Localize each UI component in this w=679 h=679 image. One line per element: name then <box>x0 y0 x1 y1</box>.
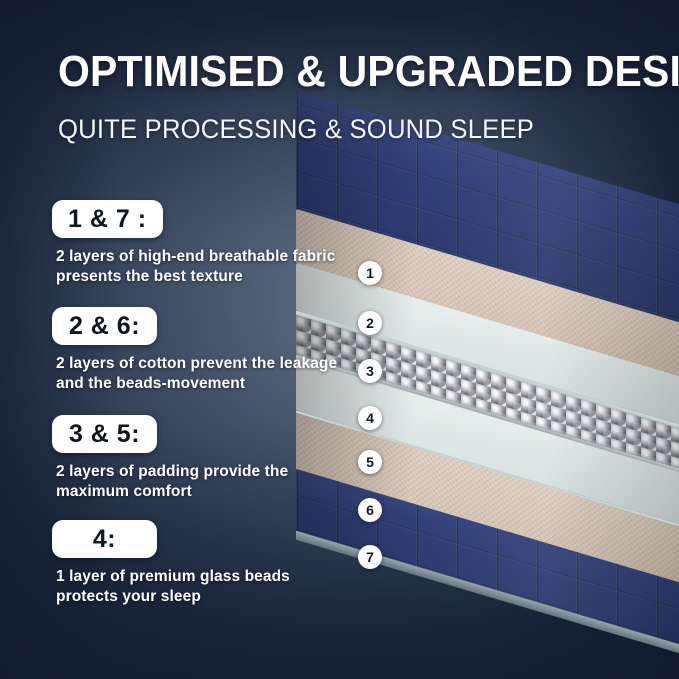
info-label-3: 3 & 5: <box>52 415 157 453</box>
layer-badge-7: 7 <box>358 545 382 569</box>
layer-stack-illustration: 1 2 3 4 5 6 7 <box>308 150 679 670</box>
info-label-1: 1 & 7 : <box>52 200 163 238</box>
info-label-2: 2 & 6: <box>52 307 157 345</box>
layer-badge-5: 5 <box>358 450 382 474</box>
header-group: OPTIMISED & UPGRADED DESIGN QUITE PROCES… <box>58 50 658 143</box>
info-description-1: 2 layers of high-end breathable fabric p… <box>56 247 342 287</box>
layer-badge-1: 1 <box>358 261 382 285</box>
info-description-3: 2 layers of padding provide the maximum … <box>56 462 342 502</box>
info-description-4: 1 layer of premium glass beads protects … <box>56 567 342 607</box>
info-block-4: 4: 1 layer of premium glass beads protec… <box>52 520 342 607</box>
layer-badge-2: 2 <box>358 311 382 335</box>
info-block-1: 1 & 7 : 2 layers of high-end breathable … <box>52 200 342 287</box>
page-title: OPTIMISED & UPGRADED DESIGN <box>58 50 616 94</box>
layer-badge-4: 4 <box>358 406 382 430</box>
info-description-2: 2 layers of cotton prevent the leakage a… <box>56 354 342 394</box>
layer-badge-6: 6 <box>358 498 382 522</box>
page-subtitle: QUITE PROCESSING & SOUND SLEEP <box>58 116 628 143</box>
info-block-3: 3 & 5: 2 layers of padding provide the m… <box>52 415 342 502</box>
stack-layer-7 <box>296 528 679 678</box>
info-label-4: 4: <box>52 520 157 558</box>
layer-badge-3: 3 <box>358 359 382 383</box>
info-block-2: 2 & 6: 2 layers of cotton prevent the le… <box>52 307 342 394</box>
